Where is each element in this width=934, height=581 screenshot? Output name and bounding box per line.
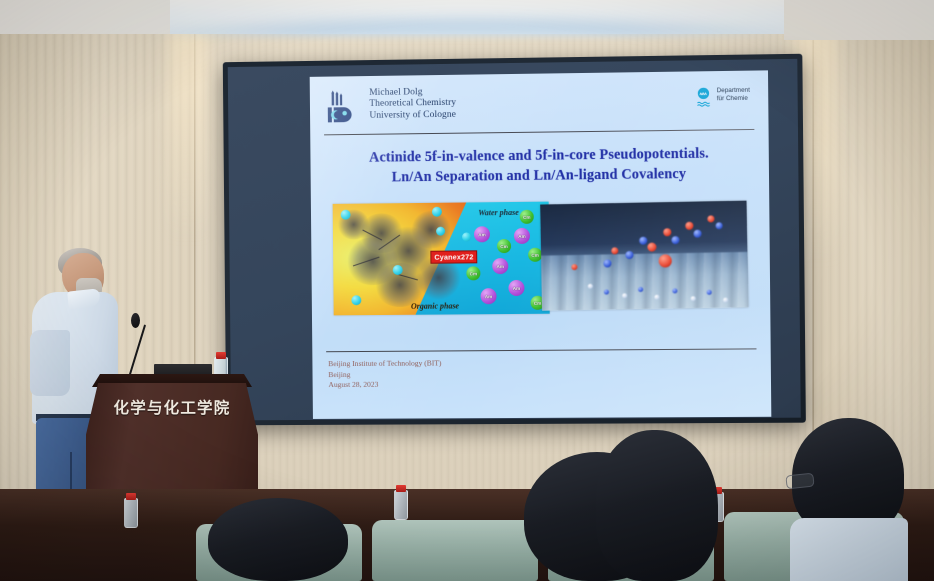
orbital-lobe (707, 215, 714, 222)
metal-ion-organic (393, 265, 403, 275)
ceiling-cove-light (150, 14, 790, 36)
ion-am: Am (514, 228, 530, 244)
slide-header: Michael Dolg Theoretical Chemistry Unive… (324, 83, 755, 133)
ion-cm: Cm (497, 239, 511, 253)
orbital-lobe (663, 228, 671, 236)
organic-phase-label: Organic phase (411, 301, 459, 310)
surface-atom (622, 293, 627, 298)
water-bottle (394, 490, 408, 520)
surface-atom (691, 296, 696, 301)
bottle-cap (216, 352, 226, 359)
ion-cm: Cm (520, 210, 534, 224)
eyeglasses (785, 473, 814, 490)
footer-date: August 28, 2023 (328, 380, 441, 391)
speaker-sleeve (30, 330, 70, 396)
slide-footer: Beijing Institute of Technology (BIT) Be… (328, 358, 441, 390)
presenter-affiliation-block: Michael Dolg Theoretical Chemistry Unive… (369, 87, 456, 122)
ion-am: Am (508, 280, 524, 296)
audience-chair (372, 520, 538, 581)
slide-title: Actinide 5f-in-valence and 5f-in-core Ps… (330, 143, 749, 188)
presenter-university: University of Cologne (369, 110, 456, 123)
lecture-hall-photo: Michael Dolg Theoretical Chemistry Unive… (0, 0, 934, 581)
ion-am: Am (481, 288, 497, 304)
projection-screen[interactable]: Michael Dolg Theoretical Chemistry Unive… (223, 54, 806, 426)
surface-atom (604, 290, 609, 295)
ion-cm: Cm (466, 266, 480, 280)
metal-ion-organic (436, 227, 445, 236)
surface-atom (672, 288, 677, 293)
solvent-extraction-figure: Am Cm Cm Am Cm Am Cm Am Am Cm Water phas… (333, 202, 550, 316)
orbital-lobe (685, 222, 693, 230)
surface-atom (588, 284, 593, 289)
footer-divider (326, 348, 756, 352)
orbital-lobe (693, 230, 701, 238)
water-bottle (124, 498, 138, 528)
screen-display-area: Michael Dolg Theoretical Chemistry Unive… (228, 59, 801, 420)
orbital-lobe (647, 243, 656, 252)
department-line-2: für Chemie (717, 95, 750, 104)
orbital-lobe (671, 236, 679, 244)
metal-ion-organic (432, 207, 442, 217)
surface-atom (638, 287, 643, 292)
surface-atom (707, 290, 712, 295)
extractant-badge: Cyanex272 (430, 250, 477, 263)
audience-head (596, 430, 718, 581)
bottle-cap (126, 493, 136, 500)
orbital-lobe (571, 264, 577, 270)
lectern-nameplate: 化学与化工学院 (92, 396, 252, 418)
surface-atom (723, 298, 728, 303)
ion-am: Am (492, 258, 508, 274)
department-chemistry-logo (695, 87, 711, 109)
ceiling-corner-right (784, 0, 934, 40)
university-of-cologne-logo (326, 90, 362, 126)
isosurface-ground (540, 252, 748, 311)
ion-am: Am (474, 226, 490, 242)
cove-light-glow-left (168, 0, 208, 240)
footer-city: Beijing (328, 369, 441, 380)
department-label: Department für Chemie (717, 87, 750, 104)
ligand-molecule (410, 211, 452, 249)
metal-ion-organic (341, 210, 351, 220)
metal-ion-organic (351, 295, 361, 305)
water-phase-label: Water phase (478, 208, 519, 217)
orbital-lobe (639, 237, 647, 245)
slide-title-line-2: Ln/An Separation and Ln/An-ligand Covale… (330, 163, 748, 188)
bottle-cap (396, 485, 406, 492)
department-logo-block: Department für Chemie (695, 87, 750, 110)
microphone-capsule (131, 313, 140, 328)
footer-institution: Beijing Institute of Technology (BIT) (328, 358, 441, 369)
ceiling-corner-left (0, 0, 170, 34)
audience-shirt (790, 518, 908, 581)
presentation-slide: Michael Dolg Theoretical Chemistry Unive… (310, 70, 772, 419)
audience-head (208, 498, 348, 581)
presenter-department: Theoretical Chemistry (369, 98, 456, 111)
orbital-lobe (716, 222, 723, 229)
surface-atom (654, 295, 659, 300)
molecular-orbital-figure (540, 201, 748, 311)
metal-ion-aqueous (462, 232, 471, 241)
slide-figure-row: Am Cm Cm Am Cm Am Cm Am Am Cm Water phas… (333, 199, 748, 316)
